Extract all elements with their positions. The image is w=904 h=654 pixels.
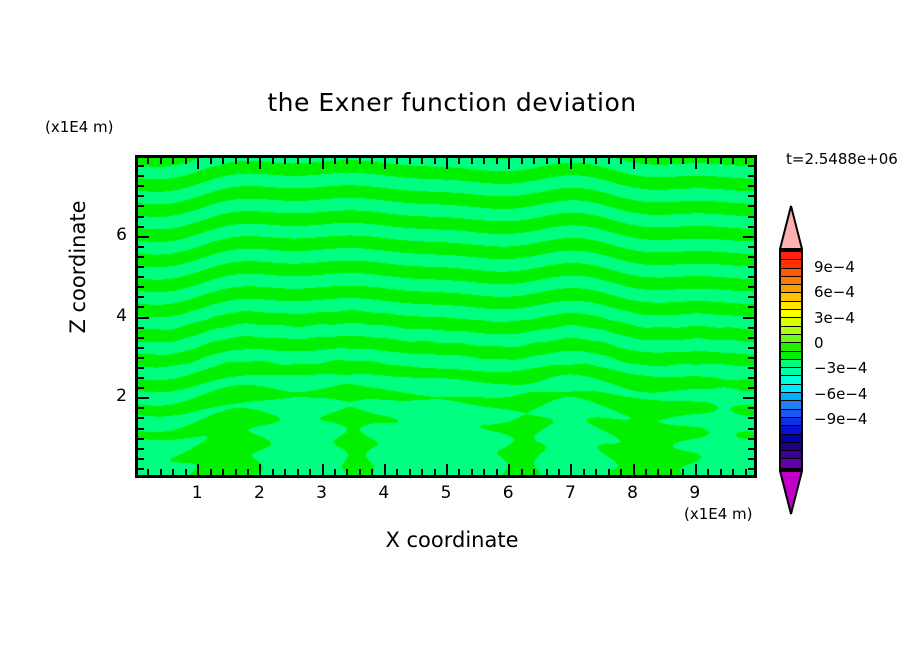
x-axis-major-tick-top: [322, 158, 324, 169]
contour-field-canvas: [138, 158, 754, 475]
y-axis-minor-tick-right: [748, 205, 754, 207]
colorbar-band: [781, 459, 801, 467]
y-axis-minor-tick-right: [748, 216, 754, 218]
x-axis-minor-tick-top: [745, 158, 747, 164]
x-axis-minor-tick-top: [185, 158, 187, 164]
x-axis-minor-tick: [272, 469, 274, 475]
x-axis-minor-tick: [458, 469, 460, 475]
y-axis-minor-tick-right: [748, 357, 754, 359]
y-axis-minor-tick: [138, 306, 144, 308]
colorbar-over-arrow-icon: [779, 205, 803, 250]
y-axis-tick-label: 2: [97, 386, 127, 406]
y-axis-minor-tick: [138, 205, 144, 207]
x-axis-major-tick-top: [259, 158, 261, 169]
y-axis-minor-tick-right: [748, 256, 754, 258]
x-axis-major-tick: [570, 464, 572, 475]
colorbar-band: [781, 435, 801, 443]
x-axis-minor-tick: [471, 469, 473, 475]
y-axis-minor-tick: [138, 296, 144, 298]
x-axis-major-tick-top: [695, 158, 697, 169]
colorbar-band: [781, 360, 801, 368]
x-axis-minor-tick: [185, 469, 187, 475]
x-axis-minor-tick-top: [533, 158, 535, 164]
colorbar-band: [781, 260, 801, 268]
x-axis-minor-tick-top: [558, 158, 560, 164]
x-axis-minor-tick: [371, 469, 373, 475]
x-axis-minor-tick: [558, 469, 560, 475]
y-axis-minor-tick-right: [748, 226, 754, 228]
x-axis-minor-tick: [334, 469, 336, 475]
y-axis-minor-tick: [138, 448, 144, 450]
y-axis-minor-tick-right: [748, 276, 754, 278]
x-axis-minor-tick: [297, 469, 299, 475]
x-axis-unit-label: (x1E4 m): [684, 505, 753, 523]
y-axis-minor-tick: [138, 276, 144, 278]
x-axis-minor-tick-top: [546, 158, 548, 164]
y-axis-minor-tick-right: [748, 438, 754, 440]
x-axis-minor-tick-top: [657, 158, 659, 164]
y-axis-minor-tick: [138, 165, 144, 167]
y-axis-tick-label: 6: [97, 225, 127, 245]
x-axis-major-tick: [259, 464, 261, 475]
x-axis-minor-tick: [483, 469, 485, 475]
y-axis-minor-tick: [138, 458, 144, 460]
x-axis-minor-tick-top: [147, 158, 149, 164]
y-axis-minor-tick: [138, 286, 144, 288]
x-axis-minor-tick-top: [521, 158, 523, 164]
x-axis-tick-label: 5: [426, 483, 466, 503]
colorbar-band: [781, 418, 801, 426]
colorbar-band: [781, 451, 801, 459]
colorbar-band-list: [779, 250, 803, 470]
y-axis-minor-tick-right: [748, 387, 754, 389]
x-axis-minor-tick: [732, 469, 734, 475]
colorbar-band: [781, 426, 801, 434]
colorbar-tick-label: −6e−4: [814, 385, 867, 403]
y-axis-minor-tick-right: [748, 296, 754, 298]
colorbar-band: [781, 393, 801, 401]
y-axis-minor-tick: [138, 438, 144, 440]
y-axis-minor-tick-right: [748, 327, 754, 329]
x-axis-minor-tick: [720, 469, 722, 475]
x-axis-major-tick: [197, 464, 199, 475]
y-axis-minor-tick-right: [748, 266, 754, 268]
colorbar-band: [781, 293, 801, 301]
colorbar-band: [781, 310, 801, 318]
x-axis-minor-tick: [210, 469, 212, 475]
colorbar-band: [781, 352, 801, 360]
colorbar-band: [781, 385, 801, 393]
y-axis-minor-tick: [138, 428, 144, 430]
x-axis-minor-tick: [745, 469, 747, 475]
y-axis-minor-tick: [138, 377, 144, 379]
x-axis-minor-tick: [396, 469, 398, 475]
x-axis-minor-tick: [608, 469, 610, 475]
x-axis-minor-tick-top: [359, 158, 361, 164]
x-axis-title: X coordinate: [0, 528, 904, 552]
x-axis-major-tick: [508, 464, 510, 475]
colorbar-band: [781, 327, 801, 335]
x-axis-major-tick: [633, 464, 635, 475]
x-axis-minor-tick-top: [284, 158, 286, 164]
x-axis-minor-tick-top: [346, 158, 348, 164]
x-axis-major-tick-top: [446, 158, 448, 169]
x-axis-minor-tick-top: [297, 158, 299, 164]
y-axis-minor-tick-right: [748, 195, 754, 197]
x-axis-major-tick-top: [633, 158, 635, 169]
x-axis-minor-tick-top: [645, 158, 647, 164]
x-axis-minor-tick-top: [720, 158, 722, 164]
y-axis-minor-tick: [138, 195, 144, 197]
colorbar-band: [781, 410, 801, 418]
x-axis-minor-tick: [160, 469, 162, 475]
x-axis-tick-label: 7: [550, 483, 590, 503]
colorbar-band: [781, 285, 801, 293]
y-axis-minor-tick-right: [748, 306, 754, 308]
x-axis-minor-tick: [421, 469, 423, 475]
y-axis-major-tick: [138, 236, 149, 238]
x-axis-minor-tick: [235, 469, 237, 475]
x-axis-minor-tick-top: [396, 158, 398, 164]
x-axis-minor-tick-top: [682, 158, 684, 164]
x-axis-minor-tick-top: [608, 158, 610, 164]
y-axis-minor-tick: [138, 226, 144, 228]
y-axis-minor-tick: [138, 185, 144, 187]
x-axis-minor-tick-top: [371, 158, 373, 164]
x-axis-minor-tick-top: [160, 158, 162, 164]
x-axis-minor-tick-top: [247, 158, 249, 164]
y-axis-minor-tick: [138, 417, 144, 419]
x-axis-minor-tick: [359, 469, 361, 475]
y-axis-minor-tick: [138, 175, 144, 177]
x-axis-major-tick-top: [384, 158, 386, 169]
y-axis-minor-tick-right: [748, 246, 754, 248]
colorbar-tick-label: 6e−4: [814, 283, 855, 301]
x-axis-major-tick: [384, 464, 386, 475]
y-axis-tick-label: 4: [97, 306, 127, 326]
colorbar-band: [781, 368, 801, 376]
y-axis-major-tick-right: [743, 236, 754, 238]
x-axis-minor-tick: [533, 469, 535, 475]
y-axis-minor-tick: [138, 246, 144, 248]
x-axis-minor-tick: [172, 469, 174, 475]
x-axis-minor-tick-top: [222, 158, 224, 164]
y-axis-minor-tick-right: [748, 458, 754, 460]
x-axis-minor-tick-top: [421, 158, 423, 164]
y-axis-minor-tick-right: [748, 468, 754, 470]
y-axis-minor-tick-right: [748, 165, 754, 167]
y-axis-minor-tick: [138, 387, 144, 389]
x-axis-minor-tick: [583, 469, 585, 475]
page-title: the Exner function deviation: [0, 88, 904, 117]
x-axis-minor-tick-top: [309, 158, 311, 164]
x-axis-minor-tick-top: [434, 158, 436, 164]
x-axis-major-tick: [695, 464, 697, 475]
colorbar-band: [781, 343, 801, 351]
colorbar-tick-label: 3e−4: [814, 309, 855, 327]
colorbar-band: [781, 335, 801, 343]
x-axis-minor-tick: [409, 469, 411, 475]
x-axis-minor-tick: [521, 469, 523, 475]
colorbar-tick-label: 0: [814, 334, 824, 352]
x-axis-minor-tick-top: [583, 158, 585, 164]
x-axis-minor-tick: [682, 469, 684, 475]
x-axis-major-tick-top: [197, 158, 199, 169]
x-axis-minor-tick-top: [496, 158, 498, 164]
y-axis-unit-label: (x1E4 m): [45, 118, 114, 136]
y-axis-major-tick: [138, 317, 149, 319]
colorbar-tick-label: −9e−4: [814, 410, 867, 428]
x-axis-major-tick: [446, 464, 448, 475]
x-axis-major-tick-top: [508, 158, 510, 169]
x-axis-minor-tick-top: [334, 158, 336, 164]
y-axis-minor-tick-right: [748, 377, 754, 379]
colorbar-band: [781, 269, 801, 277]
x-axis-minor-tick-top: [272, 158, 274, 164]
y-axis-minor-tick: [138, 468, 144, 470]
x-axis-minor-tick: [645, 469, 647, 475]
colorbar-tick-label: −3e−4: [814, 359, 867, 377]
x-axis-minor-tick: [284, 469, 286, 475]
x-axis-minor-tick: [707, 469, 709, 475]
y-axis-minor-tick: [138, 347, 144, 349]
x-axis-minor-tick: [222, 469, 224, 475]
x-axis-tick-label: 4: [364, 483, 404, 503]
y-axis-minor-tick-right: [748, 448, 754, 450]
y-axis-minor-tick-right: [748, 367, 754, 369]
x-axis-minor-tick: [147, 469, 149, 475]
x-axis-major-tick-top: [570, 158, 572, 169]
y-axis-minor-tick-right: [748, 175, 754, 177]
y-axis-major-tick-right: [743, 397, 754, 399]
y-axis-minor-tick: [138, 327, 144, 329]
x-axis-minor-tick-top: [458, 158, 460, 164]
x-axis-minor-tick-top: [471, 158, 473, 164]
colorbar-band: [781, 376, 801, 384]
x-axis-minor-tick-top: [409, 158, 411, 164]
x-axis-minor-tick-top: [210, 158, 212, 164]
x-axis-minor-tick-top: [483, 158, 485, 164]
x-axis-minor-tick: [670, 469, 672, 475]
y-axis-minor-tick: [138, 256, 144, 258]
y-axis-major-tick-right: [743, 317, 754, 319]
timestamp-annotation: t=2.5488e+06: [786, 150, 898, 168]
contour-plot-area: [135, 155, 757, 478]
x-axis-minor-tick-top: [595, 158, 597, 164]
y-axis-major-tick: [138, 397, 149, 399]
colorbar-band: [781, 401, 801, 409]
y-axis-minor-tick: [138, 337, 144, 339]
y-axis-minor-tick-right: [748, 347, 754, 349]
x-axis-minor-tick: [309, 469, 311, 475]
y-axis-minor-tick: [138, 357, 144, 359]
x-axis-minor-tick-top: [707, 158, 709, 164]
x-axis-tick-label: 6: [488, 483, 528, 503]
x-axis-tick-label: 9: [675, 483, 715, 503]
x-axis-tick-label: 1: [177, 483, 217, 503]
colorbar-tick-label: 9e−4: [814, 258, 855, 276]
y-axis-minor-tick-right: [748, 185, 754, 187]
x-axis-tick-label: 2: [239, 483, 279, 503]
y-axis-minor-tick-right: [748, 428, 754, 430]
x-axis-tick-label: 3: [302, 483, 342, 503]
x-axis-tick-label: 8: [613, 483, 653, 503]
colorbar: [779, 205, 803, 515]
x-axis-minor-tick-top: [620, 158, 622, 164]
x-axis-minor-tick-top: [235, 158, 237, 164]
x-axis-minor-tick: [546, 469, 548, 475]
x-axis-minor-tick-top: [172, 158, 174, 164]
y-axis-minor-tick: [138, 367, 144, 369]
y-axis-minor-tick: [138, 216, 144, 218]
colorbar-band: [781, 302, 801, 310]
x-axis-minor-tick: [496, 469, 498, 475]
y-axis-minor-tick: [138, 266, 144, 268]
x-axis-major-tick: [322, 464, 324, 475]
colorbar-band: [781, 252, 801, 260]
y-axis-minor-tick-right: [748, 337, 754, 339]
x-axis-minor-tick: [247, 469, 249, 475]
x-axis-minor-tick: [657, 469, 659, 475]
y-axis-minor-tick: [138, 407, 144, 409]
colorbar-band: [781, 318, 801, 326]
colorbar-under-arrow-icon: [779, 470, 803, 515]
colorbar-band: [781, 443, 801, 451]
y-axis-minor-tick-right: [748, 407, 754, 409]
x-axis-minor-tick: [346, 469, 348, 475]
x-axis-minor-tick: [434, 469, 436, 475]
y-axis-title: Z coordinate: [66, 177, 90, 357]
colorbar-band: [781, 277, 801, 285]
x-axis-minor-tick-top: [670, 158, 672, 164]
x-axis-minor-tick: [620, 469, 622, 475]
x-axis-minor-tick: [595, 469, 597, 475]
y-axis-minor-tick-right: [748, 417, 754, 419]
x-axis-minor-tick-top: [732, 158, 734, 164]
y-axis-minor-tick-right: [748, 286, 754, 288]
